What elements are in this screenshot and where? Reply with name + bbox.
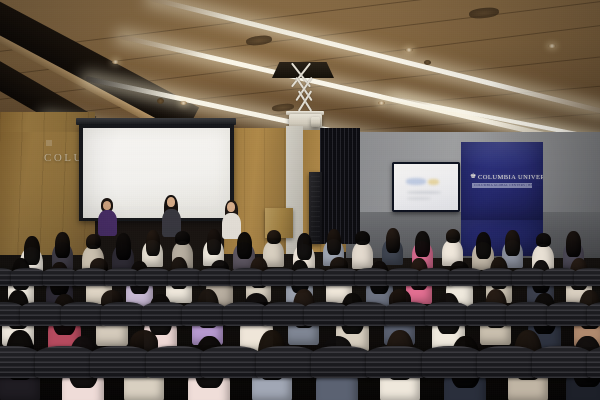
audience-chair xyxy=(20,302,64,326)
audience-chair xyxy=(385,302,429,326)
audience-chair xyxy=(506,302,550,326)
audience-member-hair xyxy=(386,228,400,253)
audience-member-hair xyxy=(267,230,281,244)
audience-chair xyxy=(418,268,452,286)
audience-member-hair xyxy=(55,232,70,258)
audience-member-hair xyxy=(86,234,101,249)
audience-chair xyxy=(547,302,591,326)
sprinkler-head-2 xyxy=(424,60,431,65)
presenter-head xyxy=(103,201,111,210)
recessed-downlight-1 xyxy=(112,60,119,64)
audience-member-hair xyxy=(355,231,370,245)
audience-chair xyxy=(262,268,296,286)
recessed-downlight-2 xyxy=(180,101,187,105)
columbia-banner: ♚ COLUMBIA UNIVERSITY COLUMBIA GLOBAL CE… xyxy=(461,142,543,224)
audience-chair xyxy=(136,268,170,286)
recessed-downlight-5 xyxy=(378,101,385,105)
audience-chair xyxy=(168,268,202,286)
audience-chair xyxy=(201,346,261,378)
audience-member-hair xyxy=(297,233,312,260)
audience-chair xyxy=(355,268,389,286)
audience-member-hair xyxy=(146,230,160,256)
audience-member-hair xyxy=(415,231,430,257)
slide-graphic-grey-2 xyxy=(407,197,431,200)
audience-chair xyxy=(422,346,482,378)
audience-chair xyxy=(142,302,186,326)
audience-chair xyxy=(223,302,267,326)
audience-member-torso xyxy=(352,241,373,269)
audience-member-hair xyxy=(207,229,221,255)
slide-graphic-blue xyxy=(406,178,426,185)
ceiling-vent-1 xyxy=(246,34,273,46)
lecture-hall-photo: COLU ♚ COLUMBIA UNIVERSITY COLUMBIA GLOB… xyxy=(0,0,600,400)
audience-chair xyxy=(146,346,206,378)
ceiling-vent-2 xyxy=(469,6,500,19)
slide-graphic-grey xyxy=(407,191,441,194)
presenter-body xyxy=(98,210,117,236)
audience-chair xyxy=(263,302,307,326)
audience-chair xyxy=(344,302,388,326)
audience-chair xyxy=(11,268,45,286)
audience-chair xyxy=(477,346,537,378)
sprinkler-head-1 xyxy=(157,98,164,104)
audience-chair xyxy=(293,268,327,286)
audience-member-hair xyxy=(476,232,491,259)
audience-chair xyxy=(466,302,510,326)
presenter-head xyxy=(167,197,175,207)
audience-chair xyxy=(35,346,95,378)
banner-subtitle: COLUMBIA GLOBAL CENTERS | BEIJING xyxy=(474,184,542,187)
audience-chair xyxy=(101,302,145,326)
line-array-speaker xyxy=(309,172,322,244)
audience-member-hair xyxy=(505,230,520,256)
audience-chair xyxy=(90,346,150,378)
banner-spotlight-glow xyxy=(461,142,543,171)
audience-chair xyxy=(449,268,483,286)
audience-chair xyxy=(587,346,600,378)
audience-chair xyxy=(74,268,108,286)
recessed-downlight-4 xyxy=(548,44,556,48)
audience-member-hair xyxy=(327,229,341,255)
projector-vent-block xyxy=(311,117,320,127)
presenter-head xyxy=(227,202,235,212)
crown-icon: ♚ xyxy=(470,173,476,180)
audience-chair xyxy=(512,268,546,286)
audience-chair xyxy=(105,268,139,286)
audience-member-hair xyxy=(566,231,581,257)
audience-chair xyxy=(543,268,577,286)
audience-chair xyxy=(311,346,371,378)
audience-chair xyxy=(61,302,105,326)
audience-chair xyxy=(366,346,426,378)
banner-title: COLUMBIA UNIVERSITY xyxy=(478,174,543,181)
audience-chair xyxy=(304,302,348,326)
audience-member-hair xyxy=(536,233,551,247)
audience-chair xyxy=(480,268,514,286)
audience-chair xyxy=(532,346,592,378)
audience-member-hair xyxy=(237,232,252,259)
audience-chair xyxy=(387,268,421,286)
audience-chair xyxy=(0,346,40,378)
audience-member-hair xyxy=(446,229,460,243)
audience-chair xyxy=(574,268,600,286)
audience-chair xyxy=(256,346,316,378)
audience-chair xyxy=(199,268,233,286)
audience-chair xyxy=(43,268,77,286)
audience-chair xyxy=(324,268,358,286)
audience-member-hair xyxy=(175,231,190,245)
audience-member-hair xyxy=(116,233,131,260)
audience-chair xyxy=(587,302,600,326)
audience-chair xyxy=(182,302,226,326)
wall-mount-plate xyxy=(46,140,52,146)
audience-chair xyxy=(425,302,469,326)
wall-signage-columbia: COLU xyxy=(44,152,84,164)
recessed-downlight-3 xyxy=(405,48,413,52)
slide-graphic-yellow xyxy=(428,179,439,185)
audience-chair xyxy=(230,268,264,286)
acoustic-slat-panel xyxy=(320,128,360,244)
wall-display-screen[interactable] xyxy=(394,164,458,210)
